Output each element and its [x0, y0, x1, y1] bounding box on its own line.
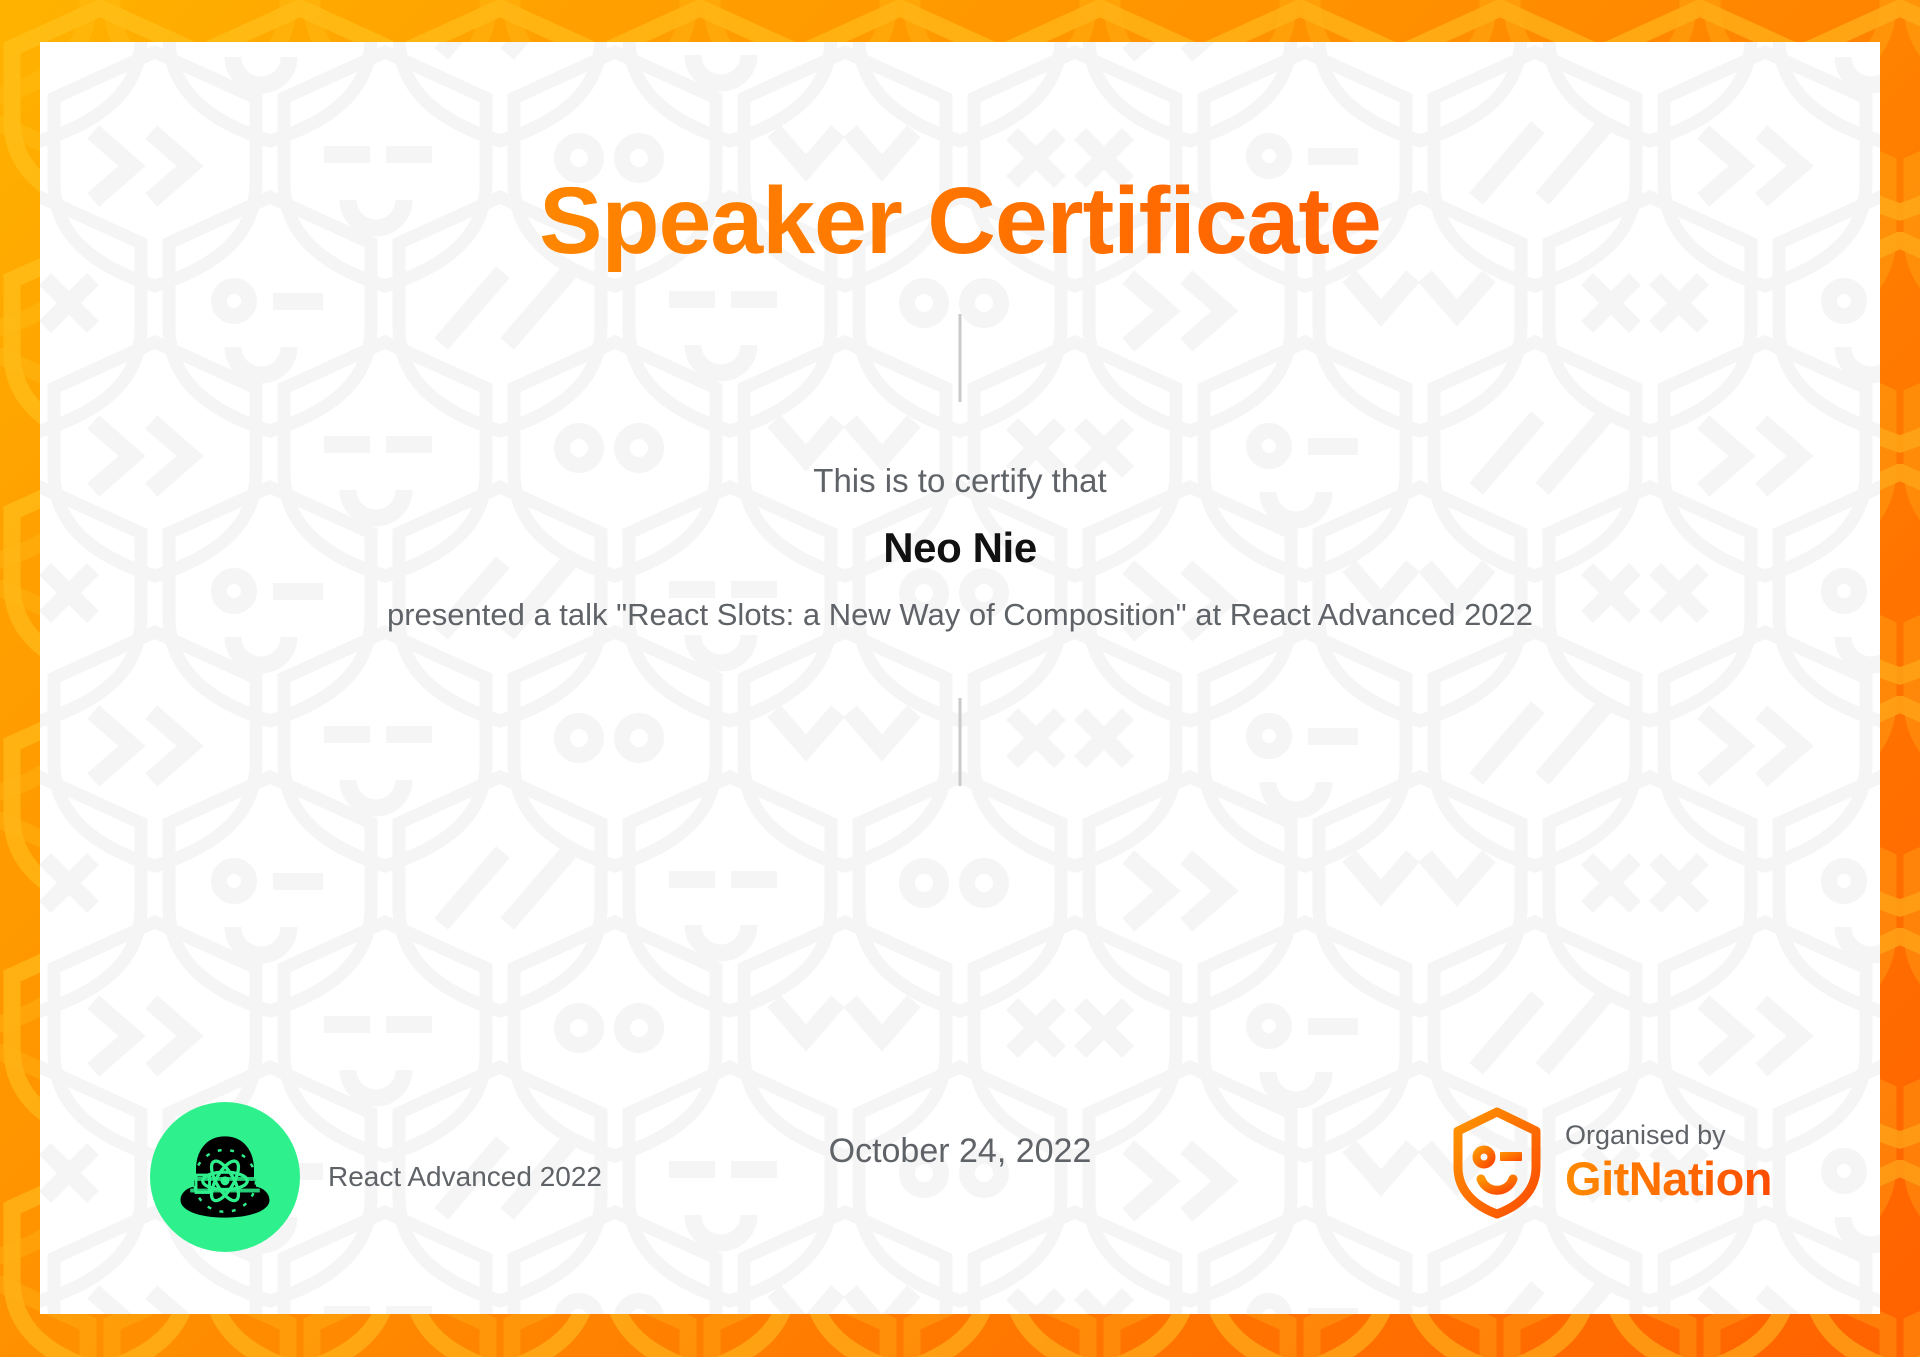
gitnation-shield-face-icon [1451, 1107, 1543, 1219]
certificate-frame: Speaker Certificate This is to certify t… [0, 0, 1920, 1357]
certify-line: This is to certify that [40, 462, 1880, 500]
organiser-block: Organised by GitNation [1451, 1107, 1772, 1219]
organised-by-label: Organised by [1565, 1120, 1772, 1151]
issue-date: October 24, 2022 [829, 1132, 1092, 1171]
certificate-footer: React Advanced 2022 October 24, 2022 [40, 1102, 1880, 1232]
organiser-name: GitNation [1565, 1152, 1772, 1206]
recipient-name: Neo Nie [40, 524, 1880, 572]
event-name: React Advanced 2022 [328, 1161, 602, 1193]
react-atom-bowler-hat-icon [150, 1102, 300, 1252]
certificate-card: Speaker Certificate This is to certify t… [40, 42, 1880, 1314]
talk-description: presented a talk "React Slots: a New Way… [290, 594, 1630, 635]
event-block: React Advanced 2022 [150, 1102, 602, 1252]
organiser-text: Organised by GitNation [1565, 1120, 1772, 1205]
page-title: Speaker Certificate [40, 172, 1880, 272]
divider-bottom [959, 698, 962, 786]
divider-top [959, 314, 962, 402]
